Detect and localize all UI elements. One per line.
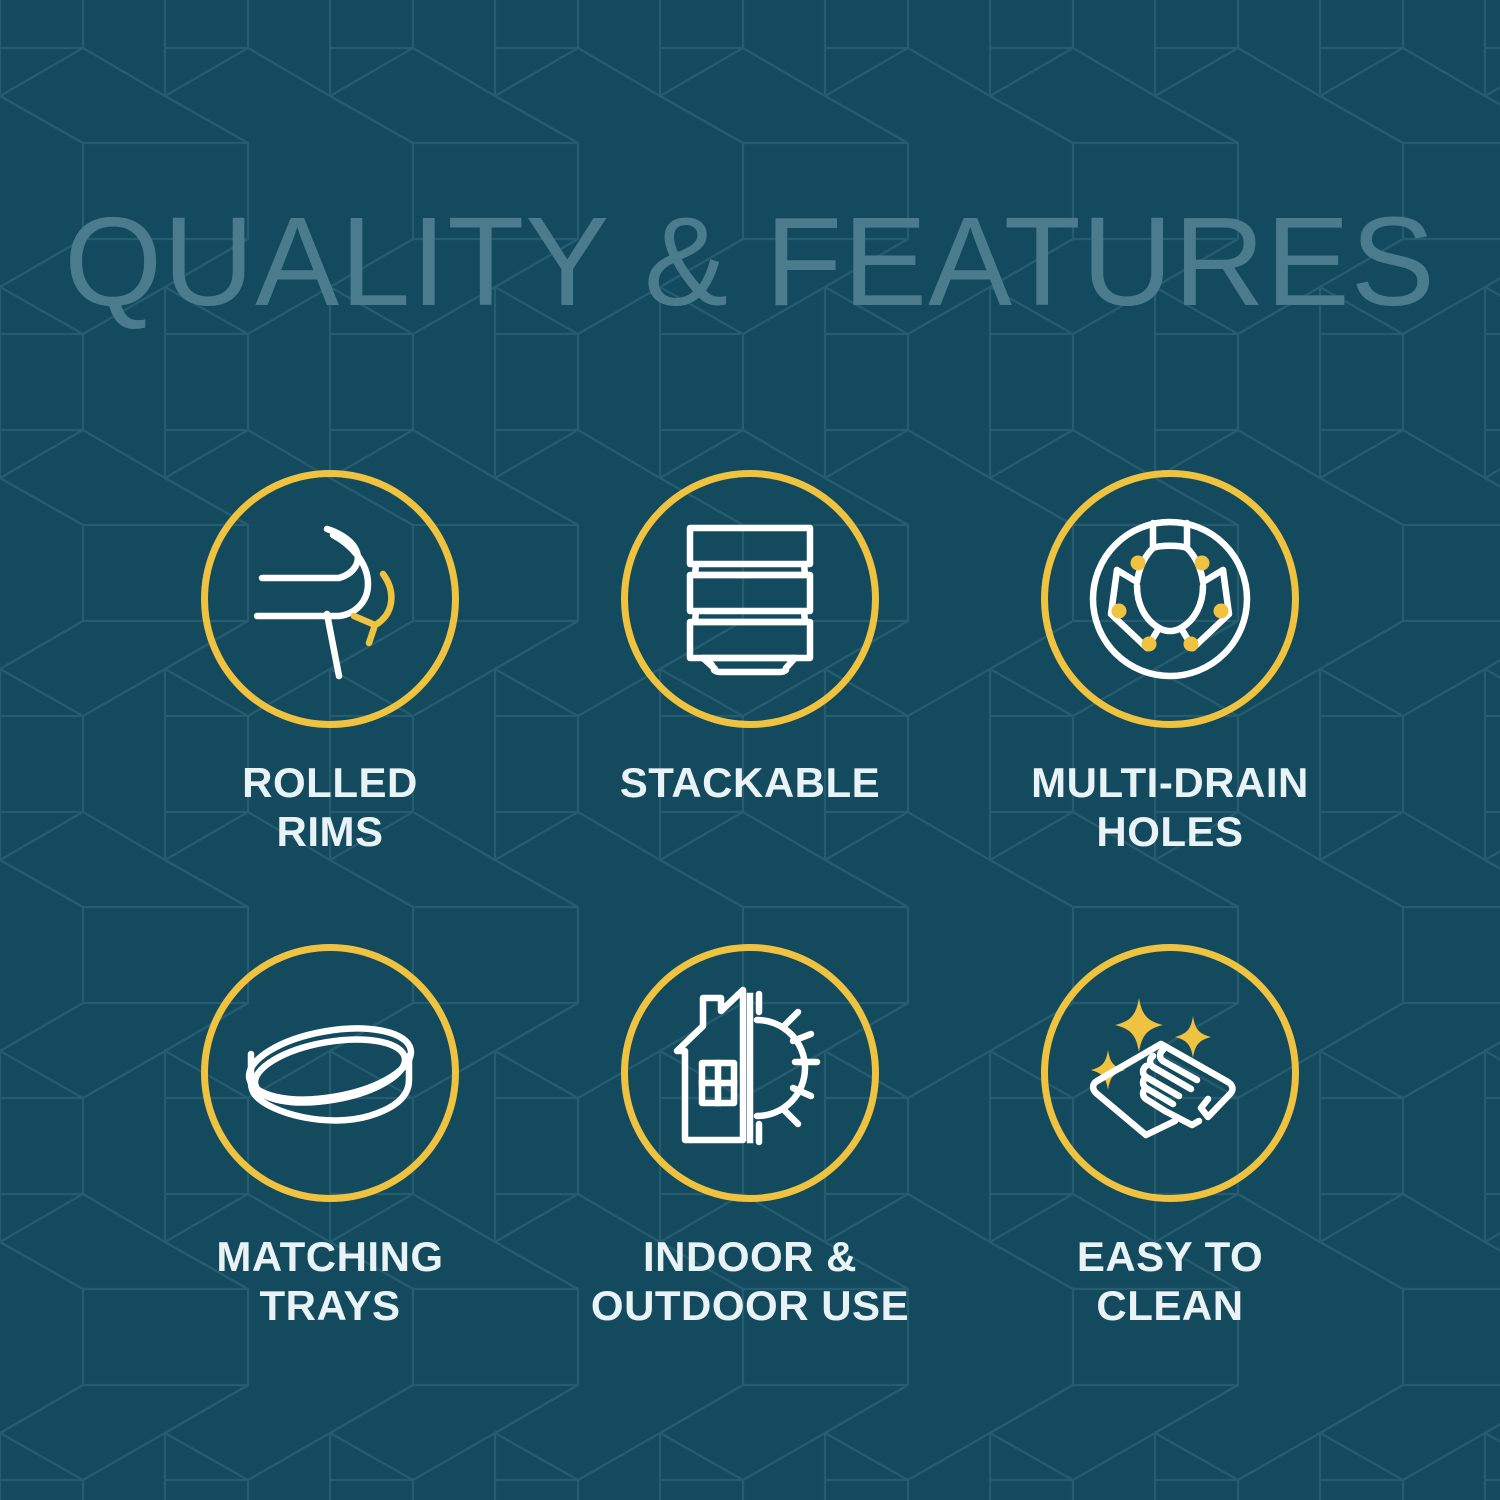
hand-wipe-sparkle-icon (1075, 978, 1265, 1168)
feature-indoor-outdoor-use[interactable]: INDOOR & OUTDOOR USE (540, 944, 960, 1330)
oval-tray-icon (233, 976, 428, 1171)
icon-ring (1041, 470, 1299, 728)
house-sun-icon (655, 978, 845, 1168)
feature-rolled-rims[interactable]: ROLLED RIMS (120, 470, 540, 856)
page-header: QUALITY & FEATURES (0, 196, 1500, 328)
feature-stackable[interactable]: STACKABLE (540, 470, 960, 856)
drain-holes-icon (1075, 504, 1265, 694)
feature-label: ROLLED RIMS (242, 759, 418, 856)
feature-label: MULTI-DRAIN HOLES (1031, 759, 1309, 856)
icon-ring (621, 470, 879, 728)
feature-multi-drain-holes[interactable]: MULTI-DRAIN HOLES (960, 470, 1380, 856)
features-grid: ROLLED RIMS STACKABLE (120, 470, 1380, 1331)
icon-ring (1041, 944, 1299, 1202)
feature-label: INDOOR & OUTDOOR USE (591, 1233, 909, 1330)
feature-label: MATCHING TRAYS (216, 1233, 443, 1330)
rolled-rim-icon (235, 504, 425, 694)
feature-label: STACKABLE (620, 759, 880, 808)
page-title: QUALITY & FEATURES (64, 196, 1436, 328)
icon-ring (201, 944, 459, 1202)
icon-ring (201, 470, 459, 728)
feature-label: EASY TO CLEAN (1077, 1233, 1263, 1330)
feature-easy-to-clean[interactable]: EASY TO CLEAN (960, 944, 1380, 1330)
feature-matching-trays[interactable]: MATCHING TRAYS (120, 944, 540, 1330)
icon-ring (621, 944, 879, 1202)
stacked-pots-icon (655, 504, 845, 694)
